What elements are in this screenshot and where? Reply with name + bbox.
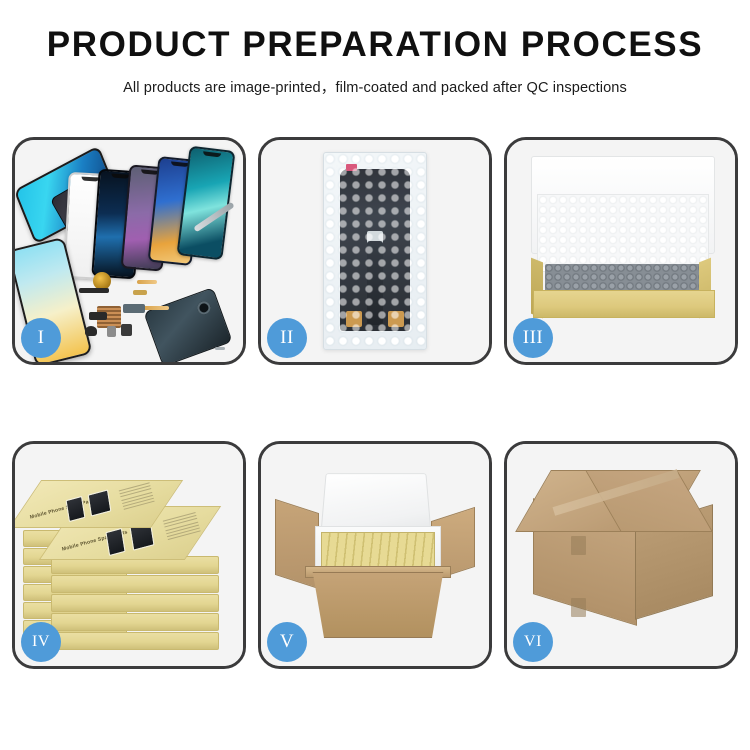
step-badge-3: III — [513, 318, 553, 358]
header: PRODUCT PREPARATION PROCESS All products… — [0, 0, 750, 97]
connector-part — [123, 304, 145, 313]
bubble-wrap-bag — [323, 152, 427, 350]
stacked-box — [51, 613, 219, 631]
notch-icon — [111, 173, 129, 178]
phone-motherboard — [143, 287, 232, 365]
step-badge-2: II — [267, 318, 307, 358]
camera-module-part — [121, 324, 132, 336]
step-panel-6: VI — [504, 441, 738, 669]
screen-flex-cable — [367, 241, 383, 325]
step-badge-5: V — [267, 622, 307, 662]
page-title: PRODUCT PREPARATION PROCESS — [0, 26, 750, 65]
step-badge-1: I — [21, 318, 61, 358]
notch-icon — [81, 177, 99, 182]
stacked-box — [51, 594, 219, 612]
sim-tray-part — [107, 326, 116, 337]
product-preparation-infographic: PRODUCT PREPARATION PROCESS All products… — [0, 0, 750, 750]
screw-part — [215, 347, 225, 350]
step-badge-4: IV — [21, 622, 61, 662]
packed-lcd-screen — [340, 169, 410, 331]
step-panel-3: III — [504, 137, 738, 365]
step-badge-6: VI — [513, 622, 553, 662]
step-panel-4: Mobile Phone Spare Parts Mobile Phone Sp… — [12, 441, 246, 669]
speaker-part — [85, 326, 97, 336]
box-window-screen — [105, 528, 125, 556]
stacked-box — [51, 632, 219, 650]
screen-foot-left — [346, 311, 362, 327]
steps-grid: I II — [12, 137, 738, 669]
white-foam-sheet — [537, 194, 709, 272]
screw-part — [133, 290, 147, 295]
notch-icon — [203, 151, 221, 157]
carton-tab-upper — [571, 536, 586, 555]
vibration-motor-part — [89, 312, 107, 320]
step-panel-5: V — [258, 441, 492, 669]
carton-front-panel — [307, 572, 449, 638]
stacked-box — [51, 575, 219, 593]
flex-cable-part — [137, 280, 157, 284]
yellow-boxes-inside — [321, 532, 435, 570]
step-panel-1: I — [12, 137, 246, 365]
antenna-strip-part — [79, 288, 109, 293]
carton-tab-lower — [571, 598, 586, 617]
pink-label-icon — [346, 164, 357, 171]
box-window-screen — [66, 496, 86, 522]
page-subtitle: All products are image-printed，film-coat… — [0, 76, 750, 97]
tray-front-panel — [533, 290, 715, 318]
step-panel-2: II — [258, 137, 492, 365]
flex-cable-part — [143, 306, 169, 310]
screen-foot-right — [388, 311, 404, 327]
